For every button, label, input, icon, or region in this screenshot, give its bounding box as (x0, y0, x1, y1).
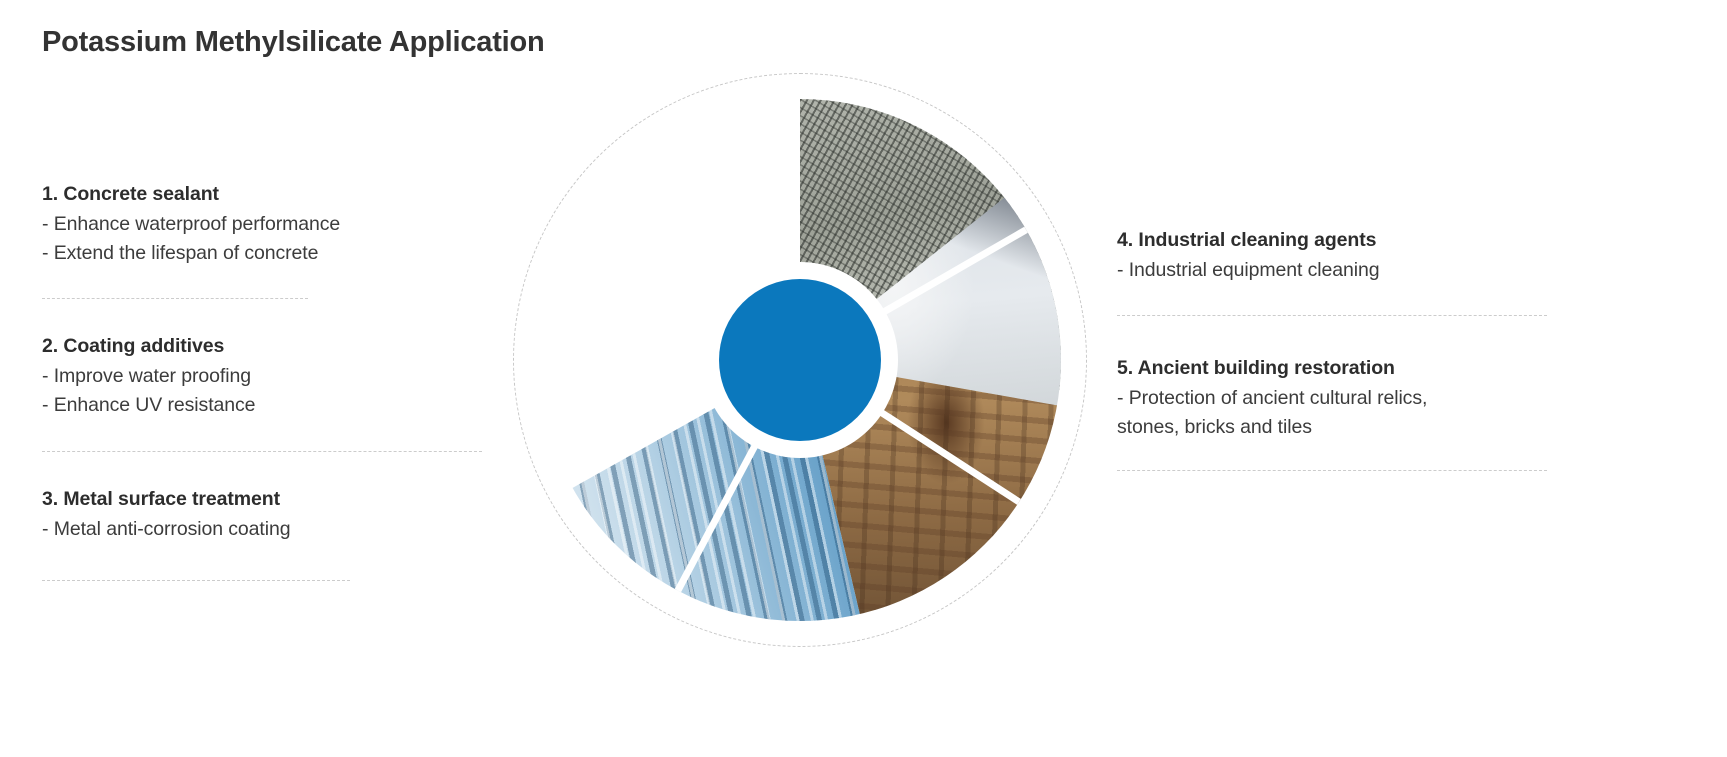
block-1-heading: 1. Concrete sealant (42, 180, 512, 210)
block-1-line-1: - Enhance waterproof performance (42, 210, 512, 239)
application-block-1: 1. Concrete sealant - Enhance waterproof… (42, 180, 512, 268)
application-block-5: 5. Ancient building restoration - Protec… (1117, 354, 1587, 442)
spacer-3 (1117, 316, 1587, 354)
divider-after-block-5 (1117, 470, 1547, 471)
application-block-2: 2. Coating additives - Improve water pro… (42, 332, 512, 420)
page-title: Potassium Methylsilicate Application (42, 26, 545, 59)
application-block-4: 4. Industrial cleaning agents - Industri… (1117, 226, 1587, 285)
block-5-heading: 5. Ancient building restoration (1117, 354, 1587, 384)
block-4-line-1: - Industrial equipment cleaning (1117, 256, 1587, 285)
left-column: 1. Concrete sealant - Enhance waterproof… (42, 180, 512, 581)
infographic-page: Potassium Methylsilicate Application 1. … (0, 0, 1727, 757)
spacer-1 (42, 299, 512, 332)
block-2-heading: 2. Coating additives (42, 332, 512, 362)
right-column: 4. Industrial cleaning agents - Industri… (1117, 226, 1587, 471)
block-2-line-2: - Enhance UV resistance (42, 391, 512, 420)
center-hub-circle (719, 279, 881, 441)
segmented-photo-circle (539, 99, 1061, 621)
block-1-line-2: - Extend the lifespan of concrete (42, 239, 512, 268)
application-wheel (513, 73, 1087, 647)
block-5-line-1: - Protection of ancient cultural relics, (1117, 384, 1587, 413)
spacer-2 (42, 452, 512, 485)
block-5-line-2: stones, bricks and tiles (1117, 413, 1587, 442)
application-block-3: 3. Metal surface treatment - Metal anti-… (42, 485, 512, 544)
divider-after-block-3 (42, 580, 350, 581)
block-3-line-1: - Metal anti-corrosion coating (42, 515, 512, 544)
block-2-line-1: - Improve water proofing (42, 362, 512, 391)
block-4-heading: 4. Industrial cleaning agents (1117, 226, 1587, 256)
block-3-heading: 3. Metal surface treatment (42, 485, 512, 515)
